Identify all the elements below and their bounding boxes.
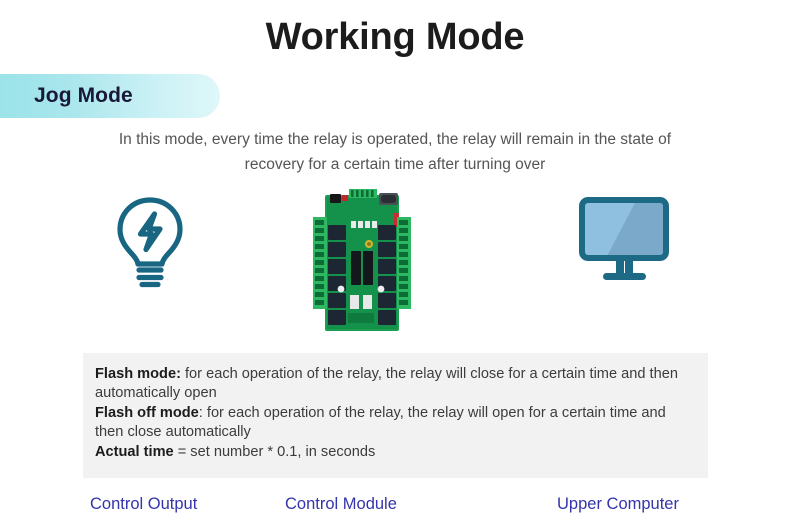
note-flash-mode-lead: Flash mode: — [95, 366, 181, 382]
note-flash-off-mode: Flash off mode: for each operation of th… — [95, 404, 694, 442]
note-flash-off-mode-lead: Flash off mode — [95, 405, 199, 421]
caption-upper-computer: Upper Computer — [557, 495, 679, 514]
note-actual-time-lead: Actual time — [95, 444, 174, 460]
mode-diagram: Inching Command Support multi-channel si… — [0, 185, 790, 335]
note-actual-time: Actual time = set number * 0.1, in secon… — [95, 443, 694, 462]
note-actual-time-body: = set number * 0.1, in seconds — [174, 444, 376, 460]
relay-board-icon — [311, 189, 413, 340]
monitor-icon — [575, 194, 673, 287]
notes-box: Flash mode: for each operation of the re… — [83, 353, 708, 478]
mode-badge-label: Jog Mode — [34, 84, 133, 108]
mode-badge: Jog Mode — [0, 74, 220, 118]
caption-control-module: Control Module — [285, 495, 397, 514]
lightbulb-icon — [113, 196, 187, 293]
note-flash-mode-body: for each operation of the relay, the rel… — [95, 366, 678, 401]
caption-control-output: Control Output — [90, 495, 197, 514]
page-title: Working Mode — [0, 18, 790, 56]
mode-description: In this mode, every time the relay is op… — [95, 128, 695, 178]
note-flash-mode: Flash mode: for each operation of the re… — [95, 365, 694, 403]
